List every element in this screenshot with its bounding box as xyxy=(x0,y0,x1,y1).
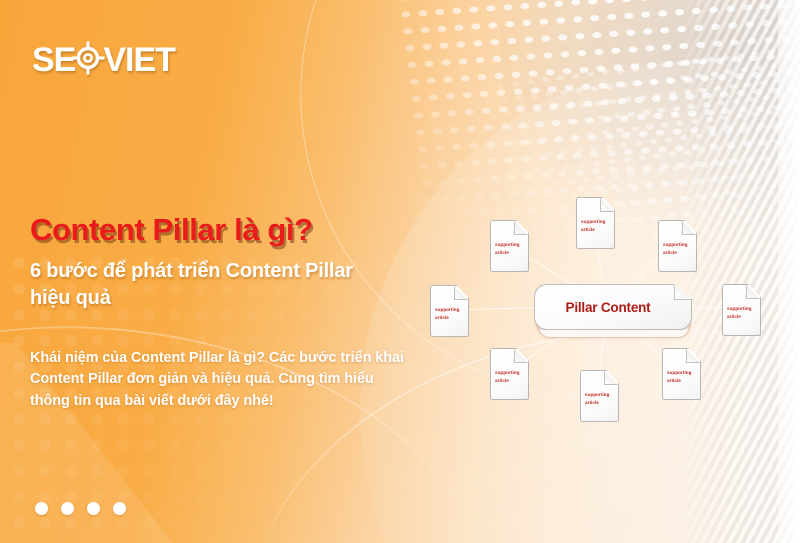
supporting-article-label-line2: article xyxy=(495,249,525,257)
supporting-article-label: supporting article xyxy=(663,241,693,256)
supporting-article-label-line2: article xyxy=(581,226,611,234)
supporting-article-label-line2: article xyxy=(435,314,465,322)
supporting-article-node[interactable]: supporting article xyxy=(576,197,615,249)
page-title: Content Pillar là gì? xyxy=(30,213,313,247)
pillar-card[interactable]: Pillar Content xyxy=(534,284,692,330)
pillar-content-label: Pillar Content xyxy=(566,300,651,315)
supporting-article-label-line1: supporting xyxy=(727,305,757,313)
supporting-article-label: supporting article xyxy=(435,306,465,321)
supporting-article-node[interactable]: supporting article xyxy=(430,285,469,337)
supporting-article-node[interactable]: supporting article xyxy=(662,348,701,400)
supporting-article-label: supporting article xyxy=(581,218,611,233)
pillar-content-node[interactable]: Pillar Content xyxy=(534,284,694,340)
pagination-dot[interactable] xyxy=(87,502,100,515)
supporting-article-label-line2: article xyxy=(585,399,615,407)
supporting-article-node[interactable]: supporting article xyxy=(490,348,529,400)
supporting-article-label-line1: supporting xyxy=(435,306,465,314)
supporting-article-node[interactable]: supporting article xyxy=(722,284,761,336)
supporting-article-label-line1: supporting xyxy=(667,369,697,377)
supporting-article-node[interactable]: supporting article xyxy=(490,220,529,272)
supporting-article-node[interactable]: supporting article xyxy=(658,220,697,272)
supporting-article-label-line2: article xyxy=(663,249,693,257)
supporting-article-label-line2: article xyxy=(727,313,757,321)
pagination-dots[interactable] xyxy=(35,502,126,515)
supporting-article-label-line1: supporting xyxy=(663,241,693,249)
banner-canvas: SE VIET Content Pillar là gì? 6 bước để … xyxy=(0,0,800,543)
supporting-article-label-line1: supporting xyxy=(581,218,611,226)
supporting-article-label: supporting article xyxy=(585,391,615,406)
logo-text-left: SE xyxy=(32,43,75,77)
supporting-article-node[interactable]: supporting article xyxy=(580,370,619,422)
supporting-article-label-line2: article xyxy=(495,377,525,385)
pagination-dot[interactable] xyxy=(113,502,126,515)
page-subtitle: 6 bước để phát triển Content Pillar hiệu… xyxy=(30,258,380,312)
logo[interactable]: SE VIET xyxy=(32,40,175,79)
supporting-article-label-line1: supporting xyxy=(495,369,525,377)
page-fold-corner-icon xyxy=(674,284,694,300)
supporting-article-label-line1: supporting xyxy=(495,241,525,249)
supporting-article-label: supporting article xyxy=(667,369,697,384)
supporting-article-label: supporting article xyxy=(727,305,757,320)
pagination-dot[interactable] xyxy=(35,502,48,515)
content-pillar-diagram: Pillar Content supporting article suppor… xyxy=(410,180,800,430)
supporting-article-label: supporting article xyxy=(495,241,525,256)
logo-text-right: VIET xyxy=(103,43,175,77)
supporting-article-label-line1: supporting xyxy=(585,391,615,399)
supporting-article-label-line2: article xyxy=(667,377,697,385)
page-description: Khái niệm của Content Pillar là gì? Các … xyxy=(30,348,408,412)
crosshair-target-icon xyxy=(71,41,105,80)
supporting-article-label: supporting article xyxy=(495,369,525,384)
pagination-dot[interactable] xyxy=(61,502,74,515)
